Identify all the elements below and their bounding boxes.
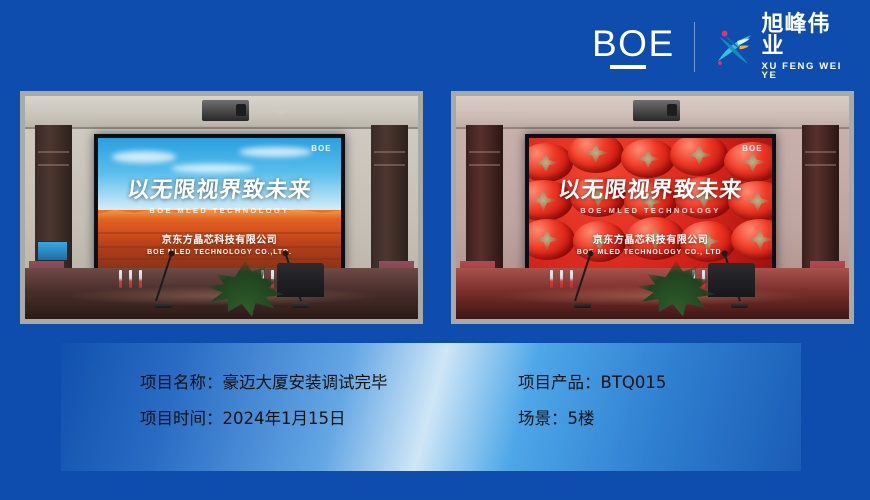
water-bottle bbox=[139, 270, 142, 288]
ceiling-projector bbox=[633, 100, 680, 120]
partner-name-cn: 旭峰伟业 bbox=[762, 14, 847, 58]
tomato-stem bbox=[581, 142, 610, 163]
project-photo-left: BOE 以无限视界致未来 BOE MLED TECHNOLOGY 京东方晶芯科技… bbox=[20, 91, 423, 324]
project-info-panel: 项目名称：豪迈大厦安装调试完毕 项目时间：2024年1月15日 项目产品：BTQ… bbox=[61, 343, 801, 471]
screen-sub-brand: BOE MLED TECHNOLOGY bbox=[98, 206, 342, 215]
side-monitor bbox=[37, 241, 68, 261]
boe-underline-icon bbox=[610, 65, 646, 69]
boe-wordmark-icon: BOE bbox=[592, 25, 675, 69]
screen-company-cn: 京东方晶芯科技有限公司 bbox=[529, 231, 773, 246]
photo-right-image: BOE 以无限视界致未来 BOE-MLED TECHNOLOGY 京东方晶芯科技… bbox=[456, 96, 849, 319]
pillar-notch bbox=[38, 164, 69, 166]
water-bottle bbox=[129, 270, 132, 288]
screen-company-en: BOE MLED TECHNOLOGY CO.,LTD. bbox=[98, 249, 342, 256]
screen-boe-logo: BOE bbox=[311, 144, 331, 153]
tomato-stem bbox=[738, 152, 768, 173]
partner-text-block: 旭峰伟业 XU FENG WEI YE bbox=[762, 14, 847, 81]
projector-lens bbox=[236, 104, 246, 116]
screen-company-en: BOE MLED TECHNOLOGY CO., LTD. bbox=[529, 249, 773, 256]
project-scene-line: 场景：5楼 bbox=[518, 401, 666, 437]
canyon-strata bbox=[98, 258, 342, 260]
pillar-notch bbox=[469, 164, 500, 166]
led-video-wall: BOE 以无限视界致未来 BOE MLED TECHNOLOGY 京东方晶芯科技… bbox=[94, 134, 346, 272]
project-product-line: 项目产品：BTQ015 bbox=[518, 365, 666, 401]
pillar-notch bbox=[805, 151, 836, 153]
vertical-divider-icon bbox=[694, 22, 695, 72]
canyon-strata bbox=[98, 246, 342, 248]
tomato-stem bbox=[634, 149, 662, 169]
projector-lens bbox=[667, 104, 677, 116]
office-chair bbox=[277, 263, 324, 296]
pillar-notch bbox=[374, 164, 405, 166]
tomato-stem bbox=[532, 152, 560, 172]
project-name-line: 项目名称：豪迈大厦安装调试完毕 bbox=[140, 365, 388, 401]
microphone-base bbox=[574, 303, 591, 308]
screen-boe-logo: BOE bbox=[742, 144, 762, 153]
led-screen-content: BOE 以无限视界致未来 BOE-MLED TECHNOLOGY 京东方晶芯科技… bbox=[529, 138, 773, 268]
microphone-base bbox=[731, 303, 748, 308]
office-chair bbox=[708, 263, 755, 296]
led-video-wall: BOE 以无限视界致未来 BOE-MLED TECHNOLOGY 京东方晶芯科技… bbox=[525, 134, 777, 272]
info-column-right: 项目产品：BTQ015 场景：5楼 bbox=[518, 365, 666, 437]
smoke-detector-icon bbox=[273, 107, 289, 114]
pillar-notch bbox=[38, 151, 69, 153]
screen-slogan: 以无限视界致未来 bbox=[529, 172, 773, 204]
led-screen-content: BOE 以无限视界致未来 BOE MLED TECHNOLOGY 京东方晶芯科技… bbox=[98, 138, 342, 268]
pillar-notch bbox=[469, 151, 500, 153]
water-bottle bbox=[570, 270, 573, 288]
boe-wordmark-text: BOE bbox=[592, 23, 675, 64]
slide-canvas: BOE 旭峰伟业 XU FENG WEI YE bbox=[0, 0, 870, 500]
header-logo-lockup: BOE 旭峰伟业 XU FENG WEI YE bbox=[592, 18, 847, 76]
microphone-base bbox=[155, 303, 172, 308]
water-bottle bbox=[560, 270, 563, 288]
pillar-notch bbox=[374, 151, 405, 153]
microphone-base bbox=[292, 303, 309, 308]
project-date-line: 项目时间：2024年1月15日 bbox=[140, 401, 388, 437]
info-column-left: 项目名称：豪迈大厦安装调试完毕 项目时间：2024年1月15日 bbox=[140, 365, 388, 437]
ceiling-projector bbox=[202, 100, 249, 120]
partner-logo-block: 旭峰伟业 XU FENG WEI YE bbox=[712, 14, 847, 81]
project-photo-right: BOE 以无限视界致未来 BOE-MLED TECHNOLOGY 京东方晶芯科技… bbox=[451, 91, 854, 324]
photo-left-image: BOE 以无限视界致未来 BOE MLED TECHNOLOGY 京东方晶芯科技… bbox=[25, 96, 418, 319]
xufeng-bird-logo-icon bbox=[712, 26, 754, 68]
screen-sub-brand: BOE-MLED TECHNOLOGY bbox=[529, 206, 773, 215]
screen-slogan: 以无限视界致未来 bbox=[98, 172, 342, 204]
screen-company-cn: 京东方晶芯科技有限公司 bbox=[98, 231, 342, 246]
partner-name-en: XU FENG WEI YE bbox=[762, 62, 847, 81]
water-bottle bbox=[550, 270, 553, 288]
water-bottle bbox=[119, 270, 122, 288]
cloud bbox=[112, 151, 175, 163]
tomato-stem bbox=[684, 144, 714, 166]
pillar-notch bbox=[805, 164, 836, 166]
